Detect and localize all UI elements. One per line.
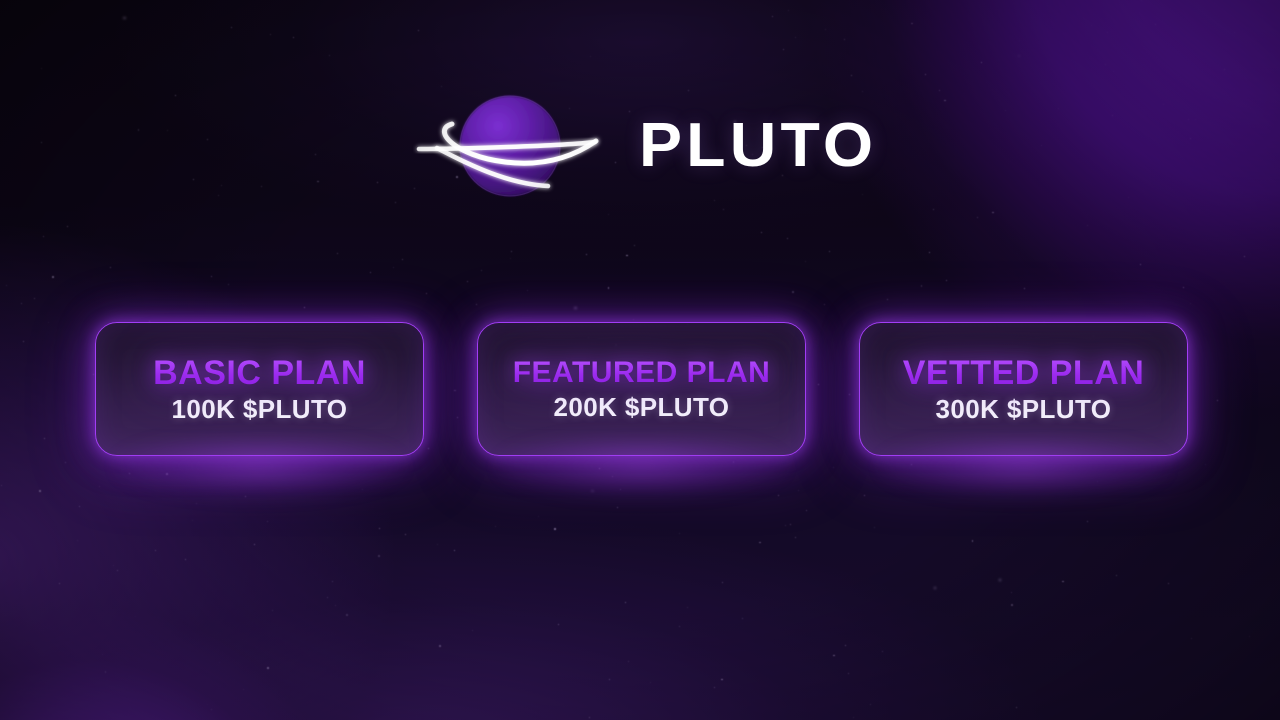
- star: [99, 486, 100, 487]
- star: [21, 303, 22, 304]
- star: [721, 679, 723, 681]
- star: [510, 258, 511, 259]
- star: [52, 276, 54, 278]
- star: [527, 290, 528, 291]
- star: [117, 570, 118, 571]
- star: [833, 467, 834, 468]
- star: [472, 630, 473, 631]
- star: [1011, 592, 1012, 593]
- star: [379, 528, 380, 529]
- star: [772, 16, 773, 17]
- plan-title: BASIC PLAN: [153, 356, 366, 390]
- star: [211, 709, 212, 710]
- star: [267, 667, 269, 669]
- star: [1113, 71, 1114, 72]
- star: [650, 682, 651, 683]
- star: [123, 17, 125, 19]
- star: [1019, 40, 1020, 41]
- star: [882, 651, 883, 652]
- star: [219, 662, 220, 663]
- star: [864, 495, 865, 496]
- star: [511, 251, 512, 252]
- star: [293, 37, 294, 38]
- star: [1024, 288, 1025, 289]
- star: [6, 285, 7, 286]
- star: [243, 689, 244, 690]
- star: [790, 524, 791, 525]
- star: [554, 528, 556, 530]
- star: [245, 496, 247, 498]
- star: [977, 217, 978, 218]
- star: [887, 299, 888, 300]
- star: [874, 527, 875, 528]
- star: [335, 605, 336, 606]
- star: [1097, 481, 1098, 482]
- star: [806, 510, 808, 512]
- star: [270, 34, 271, 35]
- star: [105, 671, 107, 673]
- star: [589, 717, 590, 718]
- star: [845, 645, 846, 646]
- star: [93, 374, 94, 375]
- star: [231, 27, 232, 28]
- star: [1011, 604, 1013, 606]
- star: [848, 673, 849, 674]
- plan-card-basic[interactable]: BASIC PLAN 100K $PLUTO: [95, 322, 424, 456]
- star: [426, 293, 427, 294]
- star: [714, 687, 715, 688]
- star: [362, 489, 363, 490]
- star: [586, 254, 587, 255]
- star: [742, 618, 744, 620]
- star: [824, 304, 825, 305]
- star: [402, 259, 403, 260]
- plan-title: VETTED PLAN: [903, 356, 1145, 390]
- star: [155, 550, 156, 551]
- star: [870, 704, 871, 705]
- star: [23, 341, 24, 342]
- star: [761, 232, 762, 233]
- star: [378, 555, 380, 557]
- pluto-pricing-screen: PLUTO BASIC PLAN 100K $PLUTO FEATURED PL…: [0, 0, 1280, 720]
- star: [370, 272, 371, 273]
- star: [608, 214, 609, 215]
- star: [59, 583, 60, 584]
- star: [1183, 287, 1184, 288]
- star: [476, 304, 477, 305]
- star: [612, 476, 613, 477]
- star: [1224, 69, 1225, 70]
- plan-card-featured[interactable]: FEATURED PLAN 200K $PLUTO: [477, 322, 806, 456]
- star: [851, 75, 852, 76]
- star: [481, 270, 482, 271]
- star: [113, 565, 114, 566]
- star: [418, 30, 419, 31]
- star: [625, 602, 626, 603]
- star: [608, 287, 610, 289]
- plan-price: 100K $PLUTO: [172, 396, 348, 422]
- star: [439, 645, 441, 647]
- star: [254, 544, 255, 545]
- star: [759, 542, 761, 544]
- star: [1087, 225, 1088, 226]
- star: [722, 582, 724, 584]
- star: [825, 29, 826, 30]
- planet-with-ring-icon: [413, 86, 613, 206]
- star: [41, 68, 42, 69]
- star: [129, 473, 130, 474]
- star: [1190, 303, 1191, 304]
- star: [185, 559, 186, 560]
- plan-price: 200K $PLUTO: [554, 394, 730, 420]
- star: [785, 525, 786, 526]
- star: [617, 507, 618, 508]
- star: [44, 438, 45, 439]
- star: [574, 307, 576, 309]
- star: [792, 291, 794, 293]
- star: [679, 626, 680, 627]
- star: [267, 521, 268, 522]
- star: [43, 236, 44, 237]
- star: [102, 654, 103, 655]
- star: [34, 298, 35, 299]
- brand-logo: PLUTO: [0, 86, 1280, 206]
- star: [934, 587, 936, 589]
- star: [337, 253, 338, 254]
- plan-card-vetted[interactable]: VETTED PLAN 300K $PLUTO: [859, 322, 1188, 456]
- star: [788, 10, 789, 11]
- star: [1205, 464, 1206, 465]
- star: [1244, 256, 1245, 257]
- star: [558, 624, 559, 625]
- plan-title: FEATURED PLAN: [513, 358, 771, 388]
- star: [1018, 55, 1020, 57]
- star: [437, 544, 438, 545]
- star: [628, 661, 629, 662]
- star: [1217, 400, 1218, 401]
- star: [79, 506, 80, 507]
- star: [1016, 707, 1017, 708]
- star: [211, 276, 212, 277]
- star: [1191, 638, 1192, 639]
- star: [798, 490, 799, 491]
- star: [304, 307, 305, 308]
- star: [829, 251, 830, 252]
- star: [783, 49, 785, 51]
- star: [609, 679, 610, 680]
- star: [911, 464, 912, 465]
- star: [228, 284, 229, 285]
- star: [992, 212, 994, 214]
- star: [844, 39, 845, 40]
- star: [77, 540, 78, 541]
- star: [787, 238, 788, 239]
- star: [911, 23, 913, 25]
- star: [1234, 32, 1235, 33]
- star: [946, 280, 947, 281]
- star: [1140, 264, 1141, 265]
- star: [65, 462, 66, 463]
- star: [805, 261, 806, 262]
- star: [633, 319, 634, 320]
- star: [599, 468, 600, 469]
- star: [346, 614, 348, 616]
- star: [495, 526, 496, 527]
- star: [272, 610, 273, 611]
- star: [454, 550, 455, 551]
- star: [332, 581, 333, 582]
- star: [687, 607, 688, 608]
- star: [207, 704, 208, 705]
- star: [1091, 25, 1092, 26]
- star: [778, 495, 779, 496]
- star: [634, 245, 635, 246]
- star: [327, 597, 328, 598]
- star: [626, 255, 628, 257]
- brand-wordmark: PLUTO: [639, 115, 877, 177]
- star: [733, 461, 735, 463]
- star: [329, 55, 330, 56]
- star: [921, 285, 923, 287]
- star: [1116, 575, 1117, 576]
- star: [795, 37, 797, 39]
- star: [1, 485, 2, 486]
- star: [620, 489, 621, 490]
- star: [981, 62, 982, 63]
- star: [538, 516, 539, 517]
- star: [39, 490, 41, 492]
- star: [192, 520, 193, 521]
- star: [679, 533, 680, 534]
- star: [67, 226, 68, 227]
- star: [48, 322, 49, 323]
- star: [933, 209, 934, 210]
- star: [110, 267, 111, 268]
- star: [833, 655, 835, 657]
- star: [405, 534, 406, 535]
- star: [1087, 521, 1088, 522]
- star: [393, 267, 394, 268]
- plan-price: 300K $PLUTO: [936, 396, 1112, 422]
- star: [1168, 583, 1169, 584]
- star: [972, 540, 974, 542]
- star: [1062, 581, 1064, 583]
- star: [795, 537, 797, 539]
- star: [1155, 24, 1156, 25]
- star: [1249, 636, 1250, 637]
- plan-cards-row: BASIC PLAN 100K $PLUTO FEATURED PLAN 200…: [95, 322, 1188, 456]
- star: [723, 209, 724, 210]
- star: [590, 56, 591, 57]
- star: [999, 579, 1001, 581]
- star: [591, 490, 593, 492]
- star: [467, 281, 468, 282]
- star: [196, 503, 197, 504]
- star: [135, 616, 136, 617]
- star: [853, 717, 854, 718]
- star: [925, 74, 926, 75]
- star: [1107, 32, 1108, 33]
- star: [1141, 0, 1142, 1]
- star: [1105, 64, 1106, 65]
- star: [166, 473, 168, 475]
- star: [929, 252, 930, 253]
